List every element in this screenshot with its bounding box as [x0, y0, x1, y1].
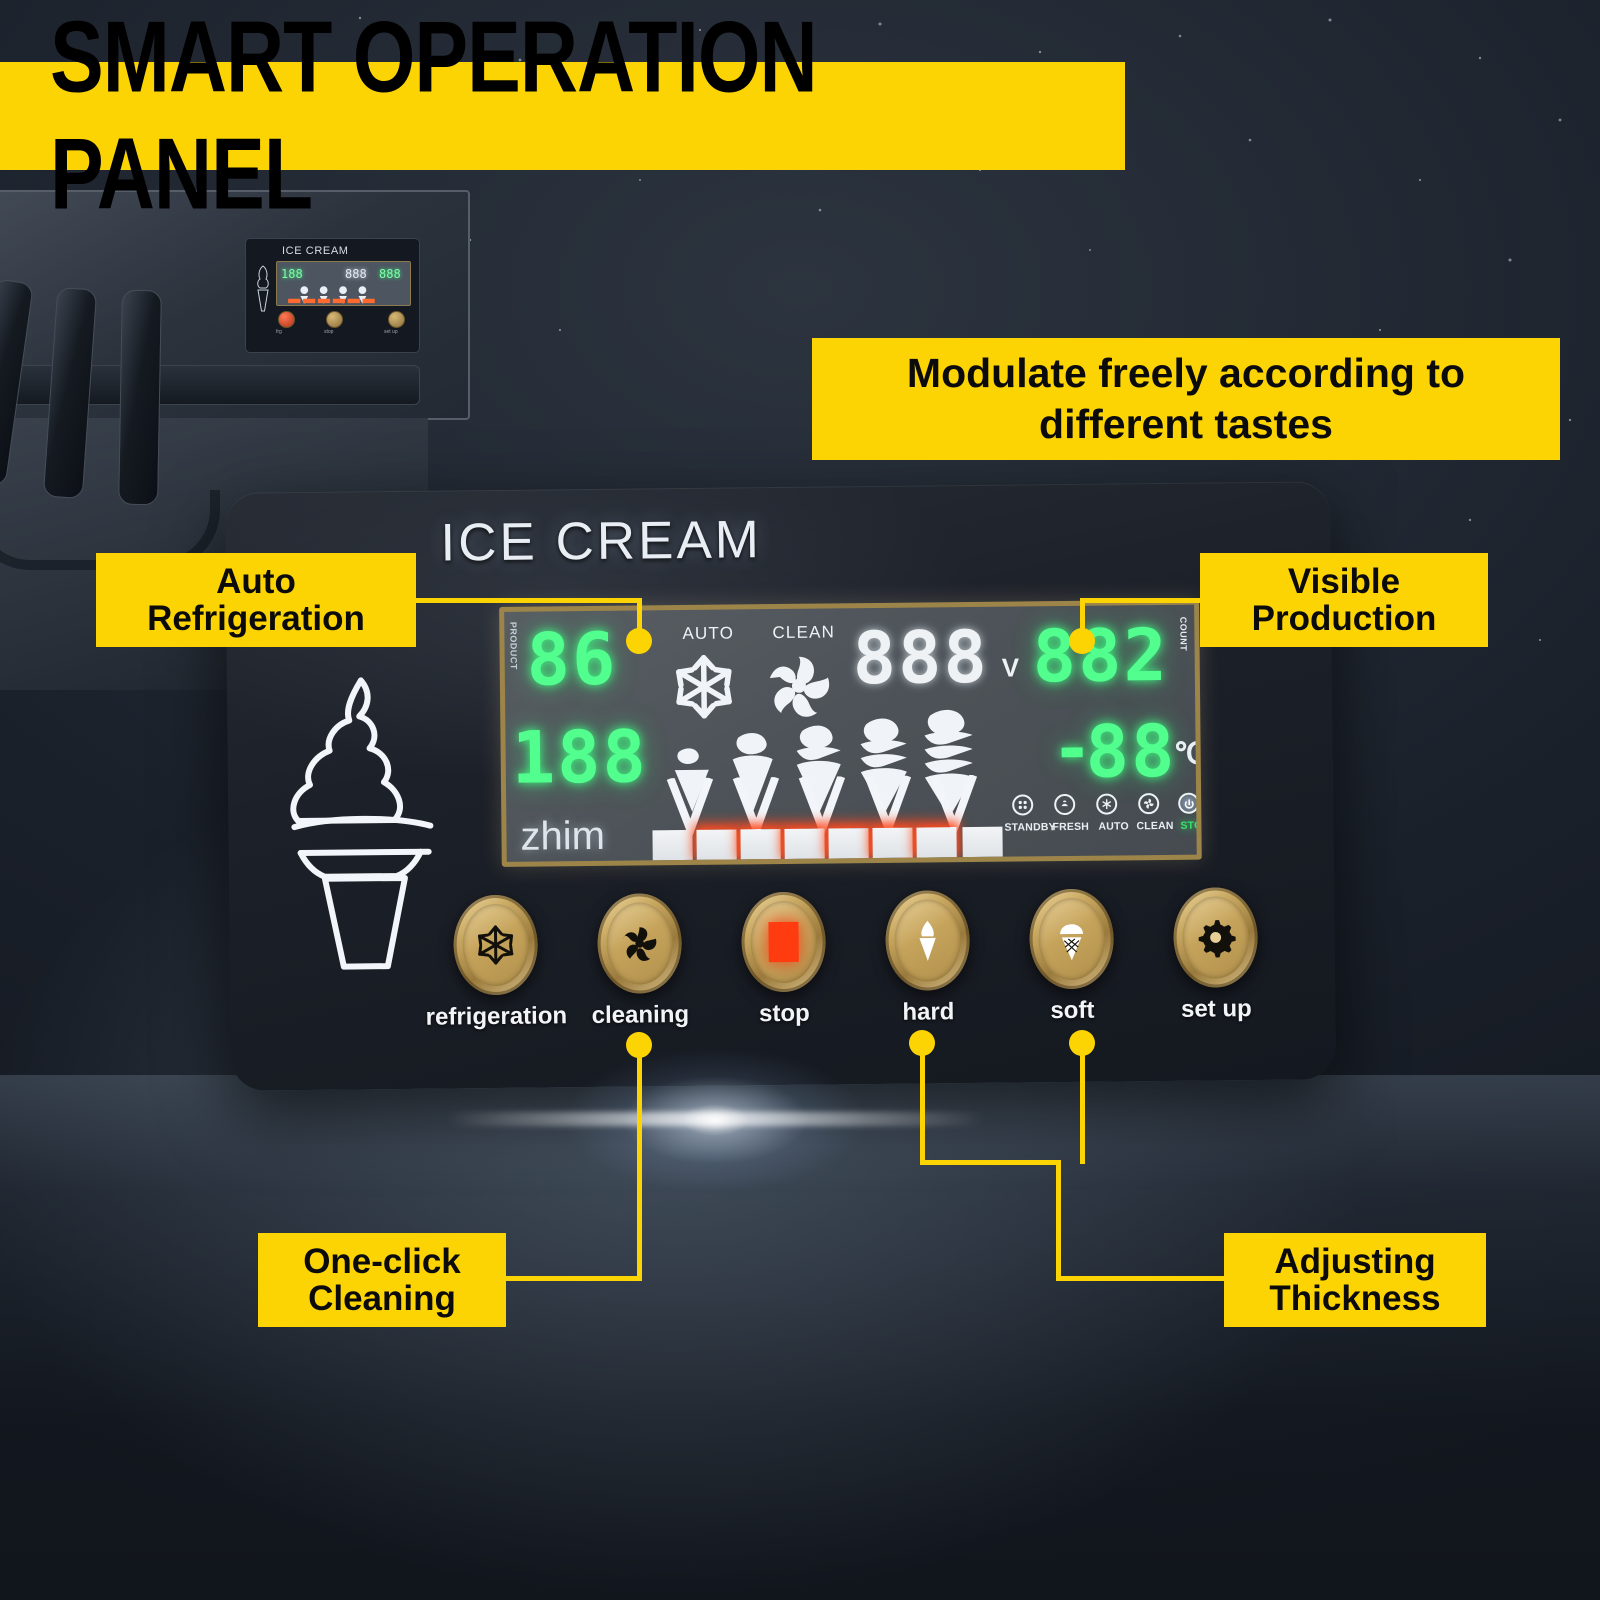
- snowflake-icon: [473, 923, 517, 967]
- lcd-left-vertical-label: PRODUCT: [508, 622, 519, 696]
- thickness-seg-4[interactable]: [828, 828, 868, 858]
- machine-inset-panel: ICE CREAM 188 888 888: [245, 238, 420, 353]
- callout-modulate-line2: different tastes: [1039, 399, 1333, 450]
- fan-icon: [618, 922, 660, 964]
- lcd-display: PRODUCT 86 188 AUTO CLEAN: [499, 600, 1202, 867]
- lens-flare: [505, 1020, 925, 1220]
- lcd-left-top-digits: 86: [526, 617, 618, 702]
- machine-inset-buttons[interactable]: frg stop set up: [278, 311, 408, 333]
- callout-adjusting-thickness-line1: Adjusting: [1274, 1243, 1435, 1280]
- machine-inset-btn-stop[interactable]: [278, 311, 295, 328]
- standby-icon: [1012, 794, 1033, 815]
- dispense-handle-3[interactable]: [118, 290, 162, 506]
- callout-line-cleaning-v: [637, 1045, 642, 1281]
- hard-button[interactable]: hard: [885, 890, 970, 991]
- callout-auto-refrigeration: Auto Refrigeration: [96, 553, 416, 647]
- machine-inset-lcd: 188 888 888: [276, 261, 411, 306]
- set-up-button[interactable]: set up: [1173, 887, 1258, 988]
- status-label-clean: CLEAN: [1136, 820, 1173, 832]
- machine-inset-lcd-left: 188: [281, 267, 303, 281]
- lcd-left-bottom-digits: 188: [511, 714, 648, 799]
- title-text: SMART OPERATION PANEL: [50, 0, 1093, 233]
- thickness-seg-1[interactable]: [696, 829, 736, 859]
- callout-line-cleaning-h: [502, 1276, 642, 1281]
- callout-dot-soft: [1069, 1030, 1095, 1056]
- set-up-button-label: set up: [1126, 995, 1306, 1025]
- callout-visible-production-line2: Production: [1252, 600, 1437, 637]
- callout-line-thickness-v2: [920, 1042, 925, 1164]
- callout-modulate: Modulate freely according to different t…: [812, 338, 1560, 460]
- callout-modulate-line1: Modulate freely according to: [907, 348, 1465, 399]
- thickness-seg-5[interactable]: [872, 828, 912, 858]
- lcd-temperature-digits: 88: [1085, 709, 1177, 794]
- callout-line-thickness-h: [1056, 1276, 1228, 1281]
- fresh-icon: [1054, 794, 1075, 815]
- panel-title: ICE CREAM: [440, 509, 762, 573]
- machine-inset-cone-logo: [252, 263, 274, 315]
- soft-button[interactable]: soft: [1029, 889, 1114, 990]
- callout-one-click-cleaning-line1: One-click: [303, 1243, 461, 1280]
- status-label-auto: AUTO: [1098, 820, 1128, 832]
- gear-icon: [1195, 917, 1235, 957]
- soft-cone-icon: [1053, 915, 1090, 963]
- thickness-seg-6[interactable]: [916, 827, 956, 857]
- callout-dot-auto-refrigeration: [626, 628, 652, 654]
- callout-line-thickness-v3: [1080, 1042, 1085, 1164]
- callout-adjusting-thickness: Adjusting Thickness: [1224, 1233, 1486, 1327]
- lcd-brand: zhim: [520, 814, 605, 860]
- lcd-clean-label: CLEAN: [772, 622, 835, 643]
- lcd-count-digits: 882: [1032, 613, 1169, 698]
- callout-line-visible-production-h: [1080, 598, 1204, 603]
- thickness-seg-7[interactable]: [962, 827, 1002, 857]
- stop-square-icon: [768, 922, 798, 962]
- lcd-auto-label: AUTO: [682, 623, 734, 644]
- lcd-voltage-digits: 888: [852, 615, 989, 700]
- machine-inset-btn-label-0: frg: [276, 329, 282, 335]
- title-banner: SMART OPERATION PANEL: [0, 62, 1125, 170]
- thickness-seg-3[interactable]: [784, 829, 824, 859]
- machine-inset-lcd-mid: 888: [345, 267, 367, 281]
- status-label-stop: STOP: [1180, 820, 1196, 832]
- callout-auto-refrigeration-line2: Refrigeration: [147, 600, 365, 637]
- thickness-seg-2[interactable]: [740, 829, 780, 859]
- callout-line-thickness-v1: [1056, 1160, 1061, 1280]
- lcd-voltage-unit: V: [1002, 652, 1020, 683]
- hard-cone-icon: [909, 916, 946, 964]
- callout-adjusting-thickness-line2: Thickness: [1269, 1280, 1440, 1317]
- status-label-fresh: FRESH: [1052, 821, 1089, 833]
- callout-auto-refrigeration-line1: Auto: [216, 563, 296, 600]
- lcd-temperature-unit: ℃: [1174, 737, 1197, 772]
- snowflake-status-icon: [1096, 793, 1117, 814]
- power-icon: [1178, 793, 1197, 814]
- callout-one-click-cleaning: One-click Cleaning: [258, 1233, 506, 1327]
- machine-inset-btn-label-2: set up: [384, 329, 398, 335]
- machine-inset-lcd-right: 888: [379, 267, 401, 281]
- thickness-bar[interactable]: [652, 825, 1010, 861]
- callout-visible-production-line1: Visible: [1288, 563, 1400, 600]
- machine-inset-panel-title: ICE CREAM: [282, 245, 349, 257]
- callout-line-auto-refrigeration-h: [408, 598, 642, 603]
- lcd-count-vertical-label: COUNT: [1178, 617, 1189, 693]
- status-label-standby: STANDBY: [1004, 821, 1055, 834]
- machine-inset-thickness-bar: [283, 297, 407, 304]
- machine-inset-btn-mid[interactable]: [326, 311, 343, 328]
- thickness-seg-0[interactable]: [652, 830, 692, 860]
- stop-button[interactable]: stop: [741, 892, 826, 993]
- status-row: STANDBY FRESH AUTO CLEAN STOP: [1012, 793, 1197, 855]
- soft-serve-cone-logo: [275, 665, 454, 977]
- callout-visible-production: Visible Production: [1200, 553, 1488, 647]
- callout-one-click-cleaning-line2: Cleaning: [308, 1280, 456, 1317]
- callout-dot-hard: [909, 1030, 935, 1056]
- callout-dot-visible-production: [1069, 628, 1095, 654]
- cleaning-button[interactable]: cleaning: [597, 893, 682, 994]
- refrigeration-button[interactable]: refrigeration: [453, 895, 538, 996]
- fan-status-icon: [1138, 793, 1159, 814]
- machine-inset-btn-label-1: stop: [324, 329, 333, 335]
- callout-dot-cleaning: [626, 1032, 652, 1058]
- machine-inset-btn-setup[interactable]: [388, 311, 405, 328]
- callout-line-thickness-h2: [920, 1160, 1060, 1165]
